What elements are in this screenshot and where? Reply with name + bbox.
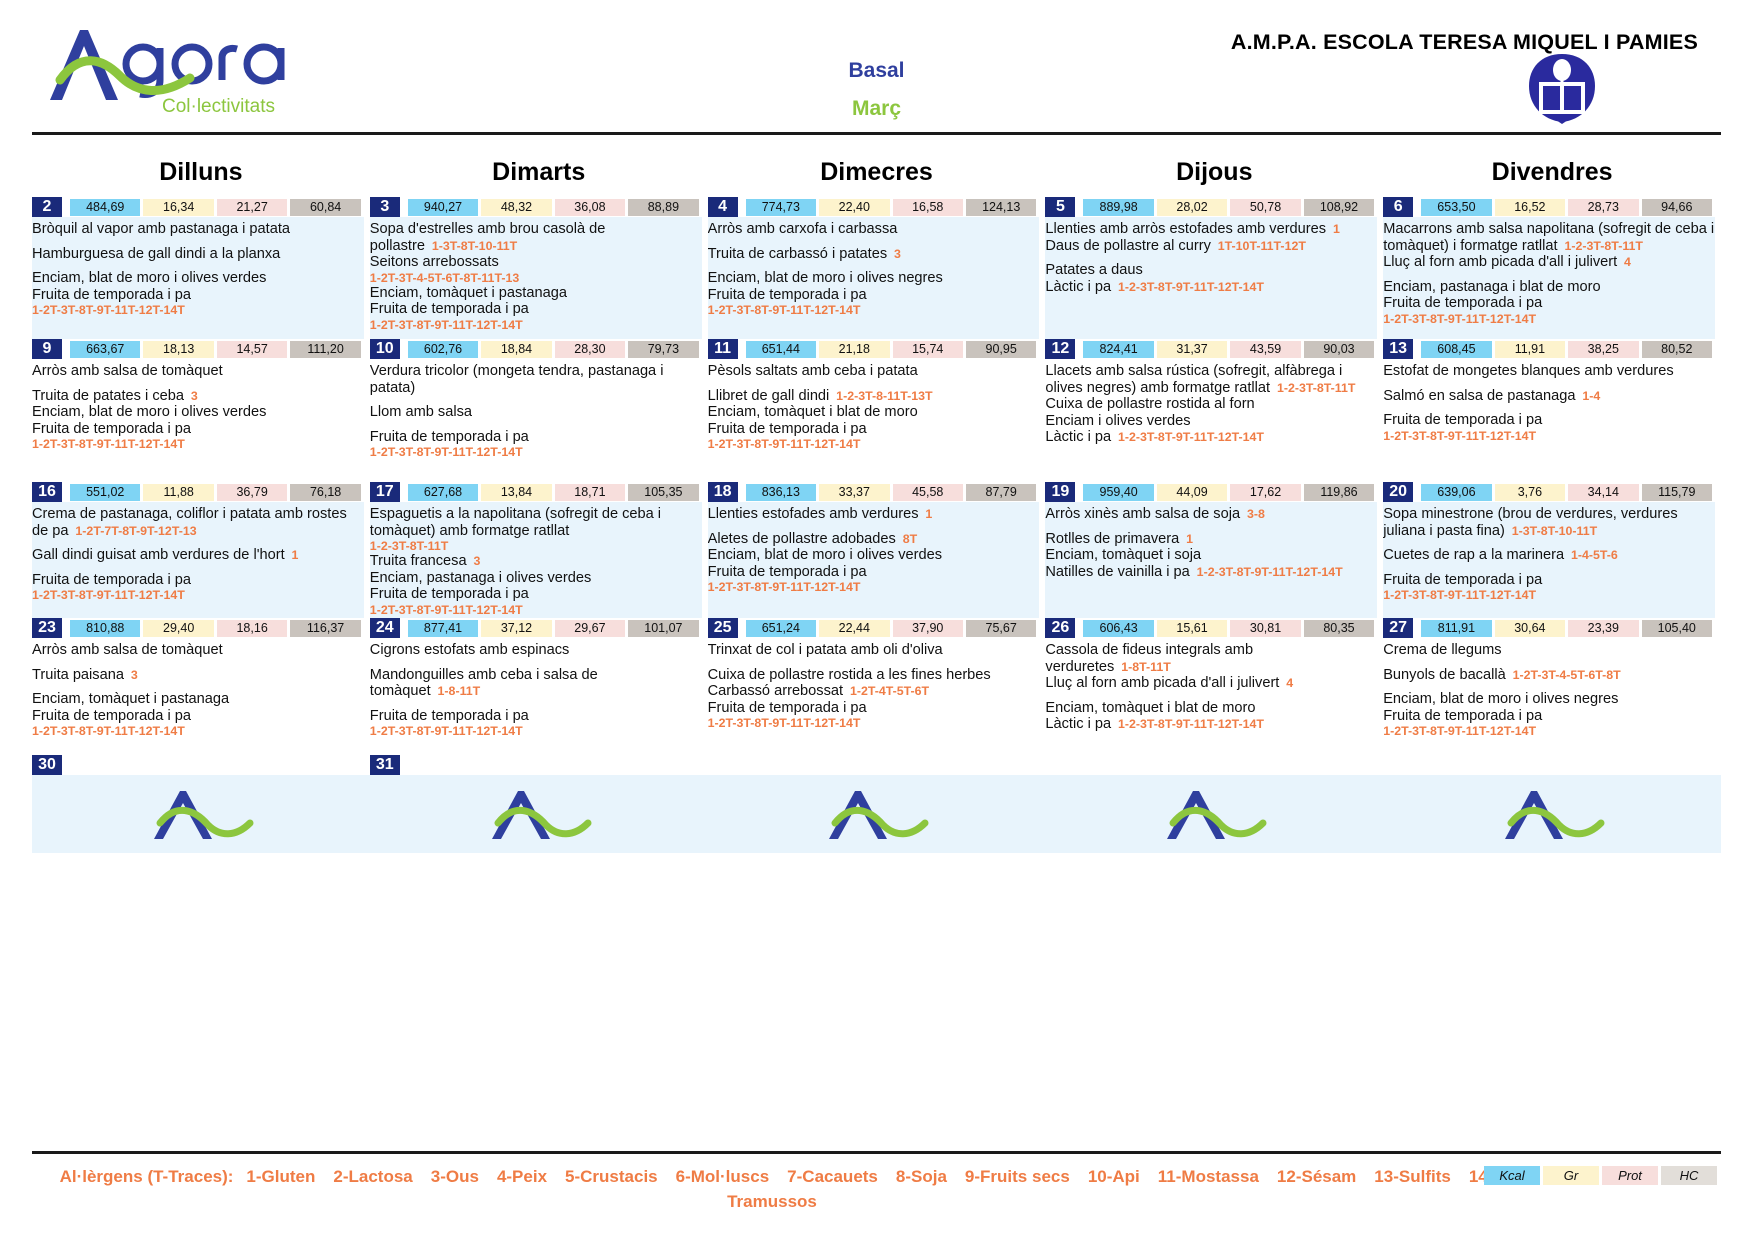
nutrition-hc: 115,79 <box>1642 484 1712 501</box>
day-header-bar: 17627,6813,8418,71105,35 <box>370 482 702 502</box>
nutrition-prot: 23,39 <box>1568 620 1638 637</box>
nutrition-hc: 75,67 <box>966 620 1036 637</box>
menu-item: Patates a daus <box>1045 262 1377 279</box>
menu-item-allergens: 1-2T-3T-4-5T-6T-8T-11T-13 <box>370 271 702 285</box>
menu-week-row: 9663,6718,1314,57111,20Arròs amb salsa d… <box>32 339 1721 482</box>
menu-item: Fruita de temporada i pa1-2T-3T-8T-9T-11… <box>708 564 1040 595</box>
menu-item-text: Fruita de temporada i pa <box>32 287 191 303</box>
menu-item: Làctic i pa 1-2-3T-8T-9T-11T-12T-14T <box>1045 716 1377 733</box>
menu-item-list: Crema de llegumsBunyols de bacallà 1-2T-… <box>1383 640 1715 742</box>
menu-item-allergens: 1-2-3T-8T-9T-11T-12T-14T <box>1111 280 1264 294</box>
menu-item-text: Gall dindi guisat amb verdures de l'hort <box>32 547 285 563</box>
menu-item-allergens: 1 <box>285 548 299 562</box>
weekday-thursday: Dijous <box>1045 152 1383 197</box>
menu-item: Llacets amb salsa rústica (sofregit, alf… <box>1045 363 1377 396</box>
day-number: 26 <box>1045 618 1075 638</box>
menu-item-text: Salmó en salsa de pastanaga <box>1383 388 1575 404</box>
menu-item-allergens: 1-8-11T <box>431 684 481 698</box>
menu-item: Lluç al forn amb picada d'all i julivert… <box>1383 254 1715 271</box>
menu-item-text: Trinxat de col i patata amb oli d'oliva <box>708 642 943 658</box>
menu-day-content: 9663,6718,1314,57111,20Arròs amb salsa d… <box>32 339 364 482</box>
page-header: Col·lectivitats Basal Març A.M.P.A. ESCO… <box>0 0 1753 140</box>
menu-item: Cuixa de pollastre rostida al forn <box>1045 396 1377 413</box>
menu-item-allergens: 1-2T-3T-8T-9T-11T-12T-14T <box>1383 312 1715 326</box>
nutrition-prot: 50,78 <box>1230 199 1300 216</box>
menu-item-text: Bunyols de bacallà <box>1383 667 1506 683</box>
menu-item-allergens: 3 <box>467 554 481 568</box>
day-number: 30 <box>32 755 62 775</box>
menu-item: Rotlles de primavera 1 <box>1045 531 1377 548</box>
menu-item: Carbassó arrebossat 1-2T-4T-5T-6T <box>708 683 1040 700</box>
menu-day-cell[interactable]: 11651,4421,1815,7490,95Pèsols saltats am… <box>708 339 1046 482</box>
menu-item-text: Fruita de temporada i pa <box>708 564 867 580</box>
nutrition-values: 484,6916,3421,2760,84 <box>70 199 364 216</box>
menu-day-cell[interactable]: 13608,4511,9138,2580,52Estofat de monget… <box>1383 339 1721 482</box>
allergen-legend-entry: 10-Api <box>1088 1167 1140 1186</box>
menu-item-allergens: 1-3T-8T-10-11T <box>1505 524 1597 538</box>
menu-item-text: Rotlles de primavera <box>1045 531 1179 547</box>
nutrition-prot: 30,81 <box>1230 620 1300 637</box>
nutrition-values: 653,5016,5228,7394,66 <box>1421 199 1715 216</box>
menu-week-row: 16551,0211,8836,7976,18Crema de pastanag… <box>32 482 1721 618</box>
nutrition-values: 551,0211,8836,7976,18 <box>70 484 364 501</box>
menu-calendar-grid: 2484,6916,3421,2760,84Bròquil al vapor a… <box>0 197 1753 755</box>
menu-item-allergens: 1-2T-3T-8T-9T-11T-12T-14T <box>1383 724 1715 738</box>
menu-item-text: Hamburguesa de gall dindi a la planxa <box>32 246 280 262</box>
menu-item-text: Llenties amb arròs estofades amb verdure… <box>1045 221 1326 237</box>
day-header-bar: 11651,4421,1815,7490,95 <box>708 339 1040 359</box>
menu-item-text: Verdura tricolor (mongeta tendra, pastan… <box>370 363 664 396</box>
nutrition-prot: 43,59 <box>1230 341 1300 358</box>
menu-item: Enciam, blat de moro i olives negres <box>1383 691 1715 708</box>
nutrition-hc: 76,18 <box>290 484 360 501</box>
school-crest-icon <box>1521 52 1603 124</box>
menu-item-text: Llom amb salsa <box>370 404 472 420</box>
menu-item-allergens: 1-2T-3T-8T-9T-11T-12T-14T <box>370 318 702 332</box>
agora-watermark <box>370 783 708 845</box>
menu-item: Estofat de mongetes blanques amb verdure… <box>1383 363 1715 380</box>
menu-item: Seitons arrebossats1-2T-3T-4-5T-6T-8T-11… <box>370 254 702 285</box>
nutrition-hc: 90,03 <box>1304 341 1374 358</box>
nutrition-gr: 16,52 <box>1495 199 1565 216</box>
menu-item-text: Pèsols saltats amb ceba i patata <box>708 363 918 379</box>
day-header-bar: 27811,9130,6423,39105,40 <box>1383 618 1715 638</box>
menu-item-text: Crema de llegums <box>1383 642 1501 658</box>
menu-day-cell[interactable]: 12824,4131,3743,5990,03Llacets amb salsa… <box>1045 339 1383 482</box>
menu-day-content: 2484,6916,3421,2760,84Bròquil al vapor a… <box>32 197 364 339</box>
nutrition-gr: 33,37 <box>819 484 889 501</box>
menu-item-allergens: 3-8 <box>1240 507 1265 521</box>
nutrition-values: 940,2748,3236,0888,89 <box>408 199 702 216</box>
menu-item: Fruita de temporada i pa1-2T-3T-8T-9T-11… <box>1383 412 1715 443</box>
menu-day-cell[interactable]: 6653,5016,5228,7394,66Macarrons amb sals… <box>1383 197 1721 339</box>
nutrition-kcal: 606,43 <box>1083 620 1153 637</box>
nutrition-values: 602,7618,8428,3079,73 <box>408 341 702 358</box>
menu-day-content: 13608,4511,9138,2580,52Estofat de monget… <box>1383 339 1715 482</box>
menu-day-cell[interactable]: 4774,7322,4016,58124,13Arròs amb carxofa… <box>708 197 1046 339</box>
day-number: 11 <box>708 339 738 359</box>
weekday-wednesday: Dimecres <box>708 152 1046 197</box>
last-week-day-cell <box>1383 755 1721 775</box>
menu-item-list: Pèsols saltats amb ceba i patataLlibret … <box>708 361 1040 455</box>
school-title: A.M.P.A. ESCOLA TERESA MIQUEL I PAMIES <box>1231 30 1698 55</box>
menu-item: Enciam, blat de moro i olives negres <box>708 270 1040 287</box>
menu-day-cell[interactable]: 17627,6813,8418,71105,35Espaguetis a la … <box>370 482 708 618</box>
menu-item-allergens: 1-2T-3T-8T-9T-11T-12T-14T <box>370 445 702 459</box>
nutrition-gr: 30,64 <box>1495 620 1565 637</box>
menu-page: Col·lectivitats Basal Març A.M.P.A. ESCO… <box>0 0 1753 1240</box>
nutrition-values: 824,4131,3743,5990,03 <box>1083 341 1377 358</box>
menu-item-allergens: 4 <box>1617 255 1631 269</box>
day-number: 3 <box>370 197 400 217</box>
menu-item-allergens: 1-2T-3T-8T-9T-11T-12T-14T <box>370 724 702 738</box>
agora-logo-icon: Col·lectivitats <box>40 18 310 118</box>
menu-day-cell[interactable]: 25651,2422,4437,9075,67Trinxat de col i … <box>708 618 1046 755</box>
nutrition-kcal: 877,41 <box>408 620 478 637</box>
nutrition-gr: 11,91 <box>1495 341 1565 358</box>
menu-item-text: Làctic i pa <box>1045 279 1111 295</box>
menu-item-text: Llibret de gall dindi <box>708 388 830 404</box>
nutrition-kcal: 959,40 <box>1083 484 1153 501</box>
menu-day-cell[interactable]: 10602,7618,8428,3079,73Verdura tricolor … <box>370 339 708 482</box>
menu-item-allergens: 1-2-3T-8T-9T-11T-12T-14T <box>1111 430 1264 444</box>
menu-item: Làctic i pa 1-2-3T-8T-9T-11T-12T-14T <box>1045 279 1377 296</box>
nutrition-gr: 21,18 <box>819 341 889 358</box>
nutrition-values: 627,6813,8418,71105,35 <box>408 484 702 501</box>
menu-item-allergens: 1-3T-8T-10-11T <box>425 239 517 253</box>
allergen-legend-entry: 1-Gluten <box>246 1167 315 1186</box>
nutrition-gr: 18,13 <box>143 341 213 358</box>
menu-item-text: Fruita de temporada i pa <box>708 287 867 303</box>
menu-item: Fruita de temporada i pa1-2T-3T-8T-9T-11… <box>32 708 364 739</box>
menu-item: Fruita de temporada i pa1-2T-3T-8T-9T-11… <box>32 572 364 603</box>
menu-item-list: Arròs amb salsa de tomàquetTruita paisan… <box>32 640 364 742</box>
menu-item: Arròs amb carxofa i carbassa <box>708 221 1040 238</box>
allergen-legend-entry: 13-Sulfits <box>1374 1167 1451 1186</box>
nutrition-gr: 22,40 <box>819 199 889 216</box>
agora-watermark <box>1383 783 1721 845</box>
day-number: 5 <box>1045 197 1075 217</box>
menu-item: Enciam, pastanaga i olives verdes <box>370 570 702 587</box>
last-week-band: 3031 <box>0 755 1753 853</box>
legend-kcal: Kcal <box>1484 1166 1540 1185</box>
nutrition-values: 810,8829,4018,16116,37 <box>70 620 364 637</box>
menu-item-text: Patates a daus <box>1045 262 1142 278</box>
menu-day-content: 17627,6813,8418,71105,35Espaguetis a la … <box>370 482 702 618</box>
agora-logo-subtext: Col·lectivitats <box>162 96 275 117</box>
nutrition-prot: 18,71 <box>555 484 625 501</box>
menu-item-text: Natilles de vainilla i pa <box>1045 564 1189 580</box>
allergen-legend-entry: 5-Crustacis <box>565 1167 658 1186</box>
menu-item-allergens: 1-4-5T-6 <box>1564 548 1618 562</box>
menu-item: Fruita de temporada i pa1-2T-3T-8T-9T-11… <box>1383 708 1715 739</box>
watermark-strip <box>32 775 1721 853</box>
footer-divider <box>32 1151 1721 1154</box>
menu-item-allergens: 1-2T-3T-8T-9T-11T-12T-14T <box>370 603 702 617</box>
nutrition-legend: Kcal Gr Prot HC <box>1484 1166 1717 1185</box>
menu-item: Enciam, tomàquet i blat de moro <box>1045 700 1377 717</box>
menu-item-text: Arròs amb carxofa i carbassa <box>708 221 898 237</box>
menu-day-cell[interactable]: 23810,8829,4018,16116,37Arròs amb salsa … <box>32 618 370 755</box>
menu-item-text: Fruita de temporada i pa <box>1383 708 1542 724</box>
nutrition-gr: 22,44 <box>819 620 889 637</box>
nutrition-gr: 3,76 <box>1495 484 1565 501</box>
menu-day-content: 24877,4137,1229,67101,07Cigrons estofats… <box>370 618 702 755</box>
nutrition-gr: 28,02 <box>1157 199 1227 216</box>
day-header-bar: 10602,7618,8428,3079,73 <box>370 339 702 359</box>
menu-item: Sopa d'estrelles amb brou casolà de poll… <box>370 221 702 254</box>
menu-item: Fruita de temporada i pa1-2T-3T-8T-9T-11… <box>1383 295 1715 326</box>
menu-item-text: Daus de pollastre al curry <box>1045 238 1210 254</box>
menu-item-text: Enciam i olives verdes <box>1045 413 1190 429</box>
menu-item-text: Enciam, tomàquet i soja <box>1045 547 1201 563</box>
menu-item: Espaguetis a la napolitana (sofregit de … <box>370 506 702 553</box>
day-number: 31 <box>370 755 400 775</box>
menu-item-text: Bròquil al vapor amb pastanaga i patata <box>32 221 290 237</box>
last-week-day-cell[interactable]: 31 <box>370 755 708 775</box>
menu-day-cell[interactable]: 18836,1333,3745,5887,79Llenties estofade… <box>708 482 1046 618</box>
nutrition-kcal: 774,73 <box>746 199 816 216</box>
agora-watermark <box>708 783 1046 845</box>
menu-item-text: Fruita de temporada i pa <box>1383 412 1542 428</box>
nutrition-kcal: 608,45 <box>1421 341 1491 358</box>
menu-item-list: Arròs amb carxofa i carbassaTruita de ca… <box>708 219 1040 321</box>
day-header-bar: 18836,1333,3745,5887,79 <box>708 482 1040 502</box>
menu-item: Aletes de pollastre adobades 8T <box>708 531 1040 548</box>
nutrition-gr: 11,88 <box>143 484 213 501</box>
menu-item: Fruita de temporada i pa1-2T-3T-8T-9T-11… <box>1383 572 1715 603</box>
menu-item-list: Arròs xinès amb salsa de soja 3-8Rotlles… <box>1045 504 1377 584</box>
nutrition-hc: 80,52 <box>1642 341 1712 358</box>
menu-day-cell[interactable]: 9663,6718,1314,57111,20Arròs amb salsa d… <box>32 339 370 482</box>
menu-item-text: Cigrons estofats amb espinacs <box>370 642 570 658</box>
menu-day-cell[interactable]: 5889,9828,0250,78108,92Llenties amb arrò… <box>1045 197 1383 339</box>
nutrition-values: 651,4421,1815,7490,95 <box>746 341 1040 358</box>
menu-item: Fruita de temporada i pa1-2T-3T-8T-9T-11… <box>32 421 364 452</box>
menu-week-row: 2484,6916,3421,2760,84Bròquil al vapor a… <box>32 197 1721 339</box>
day-header-bar: 13608,4511,9138,2580,52 <box>1383 339 1715 359</box>
menu-item-list: Macarrons amb salsa napolitana (sofregit… <box>1383 219 1715 330</box>
nutrition-gr: 37,12 <box>481 620 551 637</box>
day-header-bar: 6653,5016,5228,7394,66 <box>1383 197 1715 217</box>
nutrition-gr: 13,84 <box>481 484 551 501</box>
agora-watermark-icon <box>1159 783 1269 845</box>
menu-item-text: Espaguetis a la napolitana (sofregit de … <box>370 506 661 539</box>
menu-day-cell[interactable]: 26606,4315,6130,8180,35Cassola de fideus… <box>1045 618 1383 755</box>
menu-item: Enciam, pastanaga i blat de moro <box>1383 279 1715 296</box>
menu-item: Crema de pastanaga, coliflor i patata am… <box>32 506 364 539</box>
menu-item-text: Enciam, blat de moro i olives verdes <box>32 404 266 420</box>
day-number: 6 <box>1383 197 1413 217</box>
nutrition-values: 608,4511,9138,2580,52 <box>1421 341 1715 358</box>
nutrition-prot: 36,08 <box>555 199 625 216</box>
allergen-legend: Al·lèrgens (T-Traces):1-Gluten2-Lactosa3… <box>32 1164 1721 1214</box>
menu-item-text: Fruita de temporada i pa <box>370 429 529 445</box>
menu-item-text: Enciam, tomàquet i blat de moro <box>708 404 918 420</box>
menu-item-text: Enciam, blat de moro i olives negres <box>1383 691 1618 707</box>
allergen-legend-entry: 6-Mol·luscs <box>676 1167 770 1186</box>
menu-item-text: Enciam, tomàquet i pastanaga <box>370 285 567 301</box>
menu-item-text: Enciam, blat de moro i olives verdes <box>708 547 942 563</box>
menu-item: Fruita de temporada i pa1-2T-3T-8T-9T-11… <box>370 429 702 460</box>
menu-item: Truita francesa 3 <box>370 553 702 570</box>
day-number: 10 <box>370 339 400 359</box>
menu-day-cell[interactable]: 2484,6916,3421,2760,84Bròquil al vapor a… <box>32 197 370 339</box>
menu-day-content: 23810,8829,4018,16116,37Arròs amb salsa … <box>32 618 364 755</box>
nutrition-values: 639,063,7634,14115,79 <box>1421 484 1715 501</box>
nutrition-hc: 80,35 <box>1304 620 1374 637</box>
nutrition-gr: 29,40 <box>143 620 213 637</box>
menu-item: Fruita de temporada i pa1-2T-3T-8T-9T-11… <box>370 586 702 617</box>
menu-item: Arròs amb salsa de tomàquet <box>32 363 364 380</box>
allergen-legend-entry: 11-Mostassa <box>1158 1167 1259 1186</box>
menu-item: Trinxat de col i patata amb oli d'oliva <box>708 642 1040 659</box>
day-number: 25 <box>708 618 738 638</box>
menu-item-text: Arròs xinès amb salsa de soja <box>1045 506 1240 522</box>
menu-day-cell[interactable]: 19959,4044,0917,62119,86Arròs xinès amb … <box>1045 482 1383 618</box>
menu-item-allergens: 1-4 <box>1575 389 1600 403</box>
nutrition-prot: 14,57 <box>217 341 287 358</box>
menu-item: Llenties amb arròs estofades amb verdure… <box>1045 221 1377 238</box>
menu-day-cell[interactable]: 24877,4137,1229,67101,07Cigrons estofats… <box>370 618 708 755</box>
menu-item-allergens: 1-2T-7T-8T-9T-12T-13 <box>69 524 197 538</box>
menu-item-text: Enciam, pastanaga i blat de moro <box>1383 279 1600 295</box>
menu-item-allergens: 1-2-3T-8-11T-13T <box>829 389 932 403</box>
menu-item-text: Seitons arrebossats <box>370 254 499 270</box>
menu-item: Cigrons estofats amb espinacs <box>370 642 702 659</box>
menu-item-text: Làctic i pa <box>1045 716 1111 732</box>
menu-item-allergens: 1-2T-4T-5T-6T <box>843 684 929 698</box>
day-number: 19 <box>1045 482 1075 502</box>
last-week-day-cell[interactable]: 30 <box>32 755 370 775</box>
menu-item-text: Macarrons amb salsa napolitana (sofregit… <box>1383 221 1714 254</box>
day-number: 23 <box>32 618 62 638</box>
menu-item: Enciam, blat de moro i olives verdes <box>708 547 1040 564</box>
nutrition-kcal: 627,68 <box>408 484 478 501</box>
day-header-bar: 25651,2422,4437,9075,67 <box>708 618 1040 638</box>
menu-item: Enciam, tomàquet i pastanaga <box>370 285 702 302</box>
nutrition-gr: 16,34 <box>143 199 213 216</box>
menu-item: Llom amb salsa <box>370 404 702 421</box>
menu-item: Fruita de temporada i pa1-2T-3T-8T-9T-11… <box>708 700 1040 731</box>
day-header-bar: 19959,4044,0917,62119,86 <box>1045 482 1377 502</box>
day-number: 16 <box>32 482 62 502</box>
menu-day-cell[interactable]: 16551,0211,8836,7976,18Crema de pastanag… <box>32 482 370 618</box>
menu-item: Enciam, tomàquet i pastanaga <box>32 691 364 708</box>
menu-item-list: Estofat de mongetes blanques amb verdure… <box>1383 361 1715 447</box>
nutrition-values: 651,2422,4437,9075,67 <box>746 620 1040 637</box>
menu-item-allergens: 1 <box>1326 222 1340 236</box>
agora-watermark <box>1045 783 1383 845</box>
nutrition-kcal: 602,76 <box>408 341 478 358</box>
menu-item-list: Llenties estofades amb verdures 1Aletes … <box>708 504 1040 598</box>
nutrition-prot: 17,62 <box>1230 484 1300 501</box>
day-number: 12 <box>1045 339 1075 359</box>
menu-item-list: Espaguetis a la napolitana (sofregit de … <box>370 504 702 618</box>
menu-item-allergens: 1 <box>1179 532 1193 546</box>
menu-item-allergens: 1-8T-11T <box>1114 660 1170 674</box>
menu-item-allergens: 1-2T-3T-8T-9T-11T-12T-14T <box>708 437 1040 451</box>
menu-item: Bròquil al vapor amb pastanaga i patata <box>32 221 364 238</box>
menu-item-allergens: 1T-10T-11T-12T <box>1211 239 1306 253</box>
agora-logo: Col·lectivitats <box>40 18 310 118</box>
nutrition-hc: 101,07 <box>628 620 698 637</box>
nutrition-kcal: 663,67 <box>70 341 140 358</box>
allergen-legend-entry: 12-Sésam <box>1277 1167 1356 1186</box>
allergen-legend-entry: 8-Soja <box>896 1167 947 1186</box>
menu-item-text: Fruita de temporada i pa <box>32 572 191 588</box>
menu-item-list: Verdura tricolor (mongeta tendra, pastan… <box>370 361 702 463</box>
nutrition-values: 774,7322,4016,58124,13 <box>746 199 1040 216</box>
menu-item: Mandonguilles amb ceba i salsa de tomàqu… <box>370 667 702 700</box>
day-header-bar: 24877,4137,1229,67101,07 <box>370 618 702 638</box>
day-header-bar: 9663,6718,1314,57111,20 <box>32 339 364 359</box>
day-header-bar: 4774,7322,4016,58124,13 <box>708 197 1040 217</box>
menu-item-text: Llenties estofades amb verdures <box>708 506 919 522</box>
nutrition-values: 606,4315,6130,8180,35 <box>1083 620 1377 637</box>
menu-day-content: 4774,7322,4016,58124,13Arròs amb carxofa… <box>708 197 1040 339</box>
menu-item-allergens: 1 <box>919 507 933 521</box>
menu-item-allergens: 1-2T-3T-4-5T-6T-8T <box>1506 668 1621 682</box>
menu-item-text: Aletes de pollastre adobades <box>708 531 896 547</box>
menu-item: Daus de pollastre al curry 1T-10T-11T-12… <box>1045 238 1377 255</box>
nutrition-kcal: 551,02 <box>70 484 140 501</box>
nutrition-prot: 21,27 <box>217 199 287 216</box>
menu-item-text: Enciam, tomàquet i pastanaga <box>32 691 229 707</box>
menu-item: Llenties estofades amb verdures 1 <box>708 506 1040 523</box>
day-header-bar: 5889,9828,0250,78108,92 <box>1045 197 1377 217</box>
menu-day-cell[interactable]: 27811,9130,6423,39105,40Crema de llegums… <box>1383 618 1721 755</box>
menu-item: Truita paisana 3 <box>32 667 364 684</box>
menu-item-allergens: 1-2T-3T-8T-9T-11T-12T-14T <box>32 303 364 317</box>
header-divider <box>32 132 1721 135</box>
menu-item-text: Cuixa de pollastre rostida al forn <box>1045 396 1254 412</box>
menu-item-text: Cuetes de rap a la marinera <box>1383 547 1564 563</box>
menu-item-text: Mandonguilles amb ceba i salsa de tomàqu… <box>370 667 598 700</box>
nutrition-hc: 111,20 <box>290 341 360 358</box>
menu-item: Bunyols de bacallà 1-2T-3T-4-5T-6T-8T <box>1383 667 1715 684</box>
nutrition-values: 889,9828,0250,78108,92 <box>1083 199 1377 216</box>
menu-item: Cuetes de rap a la marinera 1-4-5T-6 <box>1383 547 1715 564</box>
menu-item-text: Enciam, tomàquet i blat de moro <box>1045 700 1255 716</box>
last-week-day-cell <box>1045 755 1383 775</box>
day-header-bar: 2484,6916,3421,2760,84 <box>32 197 364 217</box>
menu-day-cell[interactable]: 3940,2748,3236,0888,89Sopa d'estrelles a… <box>370 197 708 339</box>
menu-item-allergens: 8T <box>896 532 917 546</box>
menu-item-text: Cuixa de pollastre rostida a les fines h… <box>708 667 991 683</box>
menu-item: Enciam, blat de moro i olives verdes <box>32 270 364 287</box>
menu-item-list: Crema de pastanaga, coliflor i patata am… <box>32 504 364 606</box>
menu-item-list: Llenties amb arròs estofades amb verdure… <box>1045 219 1377 299</box>
nutrition-prot: 15,74 <box>893 341 963 358</box>
menu-item-allergens: 1-2T-3T-8T-9T-11T-12T-14T <box>708 303 1040 317</box>
menu-day-cell[interactable]: 20639,063,7634,14115,79Sopa minestrone (… <box>1383 482 1721 618</box>
menu-item-list: Sopa d'estrelles amb brou casolà de poll… <box>370 219 702 336</box>
menu-item-text: Fruita de temporada i pa <box>32 708 191 724</box>
menu-item-text: Truita de patates i ceba <box>32 388 184 404</box>
weekday-header-row: Dilluns Dimarts Dimecres Dijous Divendre… <box>0 152 1753 197</box>
menu-item-allergens: 1-2T-3T-8T-9T-11T-12T-14T <box>708 580 1040 594</box>
menu-week-row: 23810,8829,4018,16116,37Arròs amb salsa … <box>32 618 1721 755</box>
nutrition-kcal: 824,41 <box>1083 341 1153 358</box>
menu-item-text: Fruita de temporada i pa <box>708 421 867 437</box>
menu-item: Hamburguesa de gall dindi a la planxa <box>32 246 364 263</box>
nutrition-hc: 108,92 <box>1304 199 1374 216</box>
menu-item-text: Fruita de temporada i pa <box>370 301 529 317</box>
day-number: 24 <box>370 618 400 638</box>
weekday-friday: Divendres <box>1383 152 1721 197</box>
nutrition-hc: 90,95 <box>966 341 1036 358</box>
